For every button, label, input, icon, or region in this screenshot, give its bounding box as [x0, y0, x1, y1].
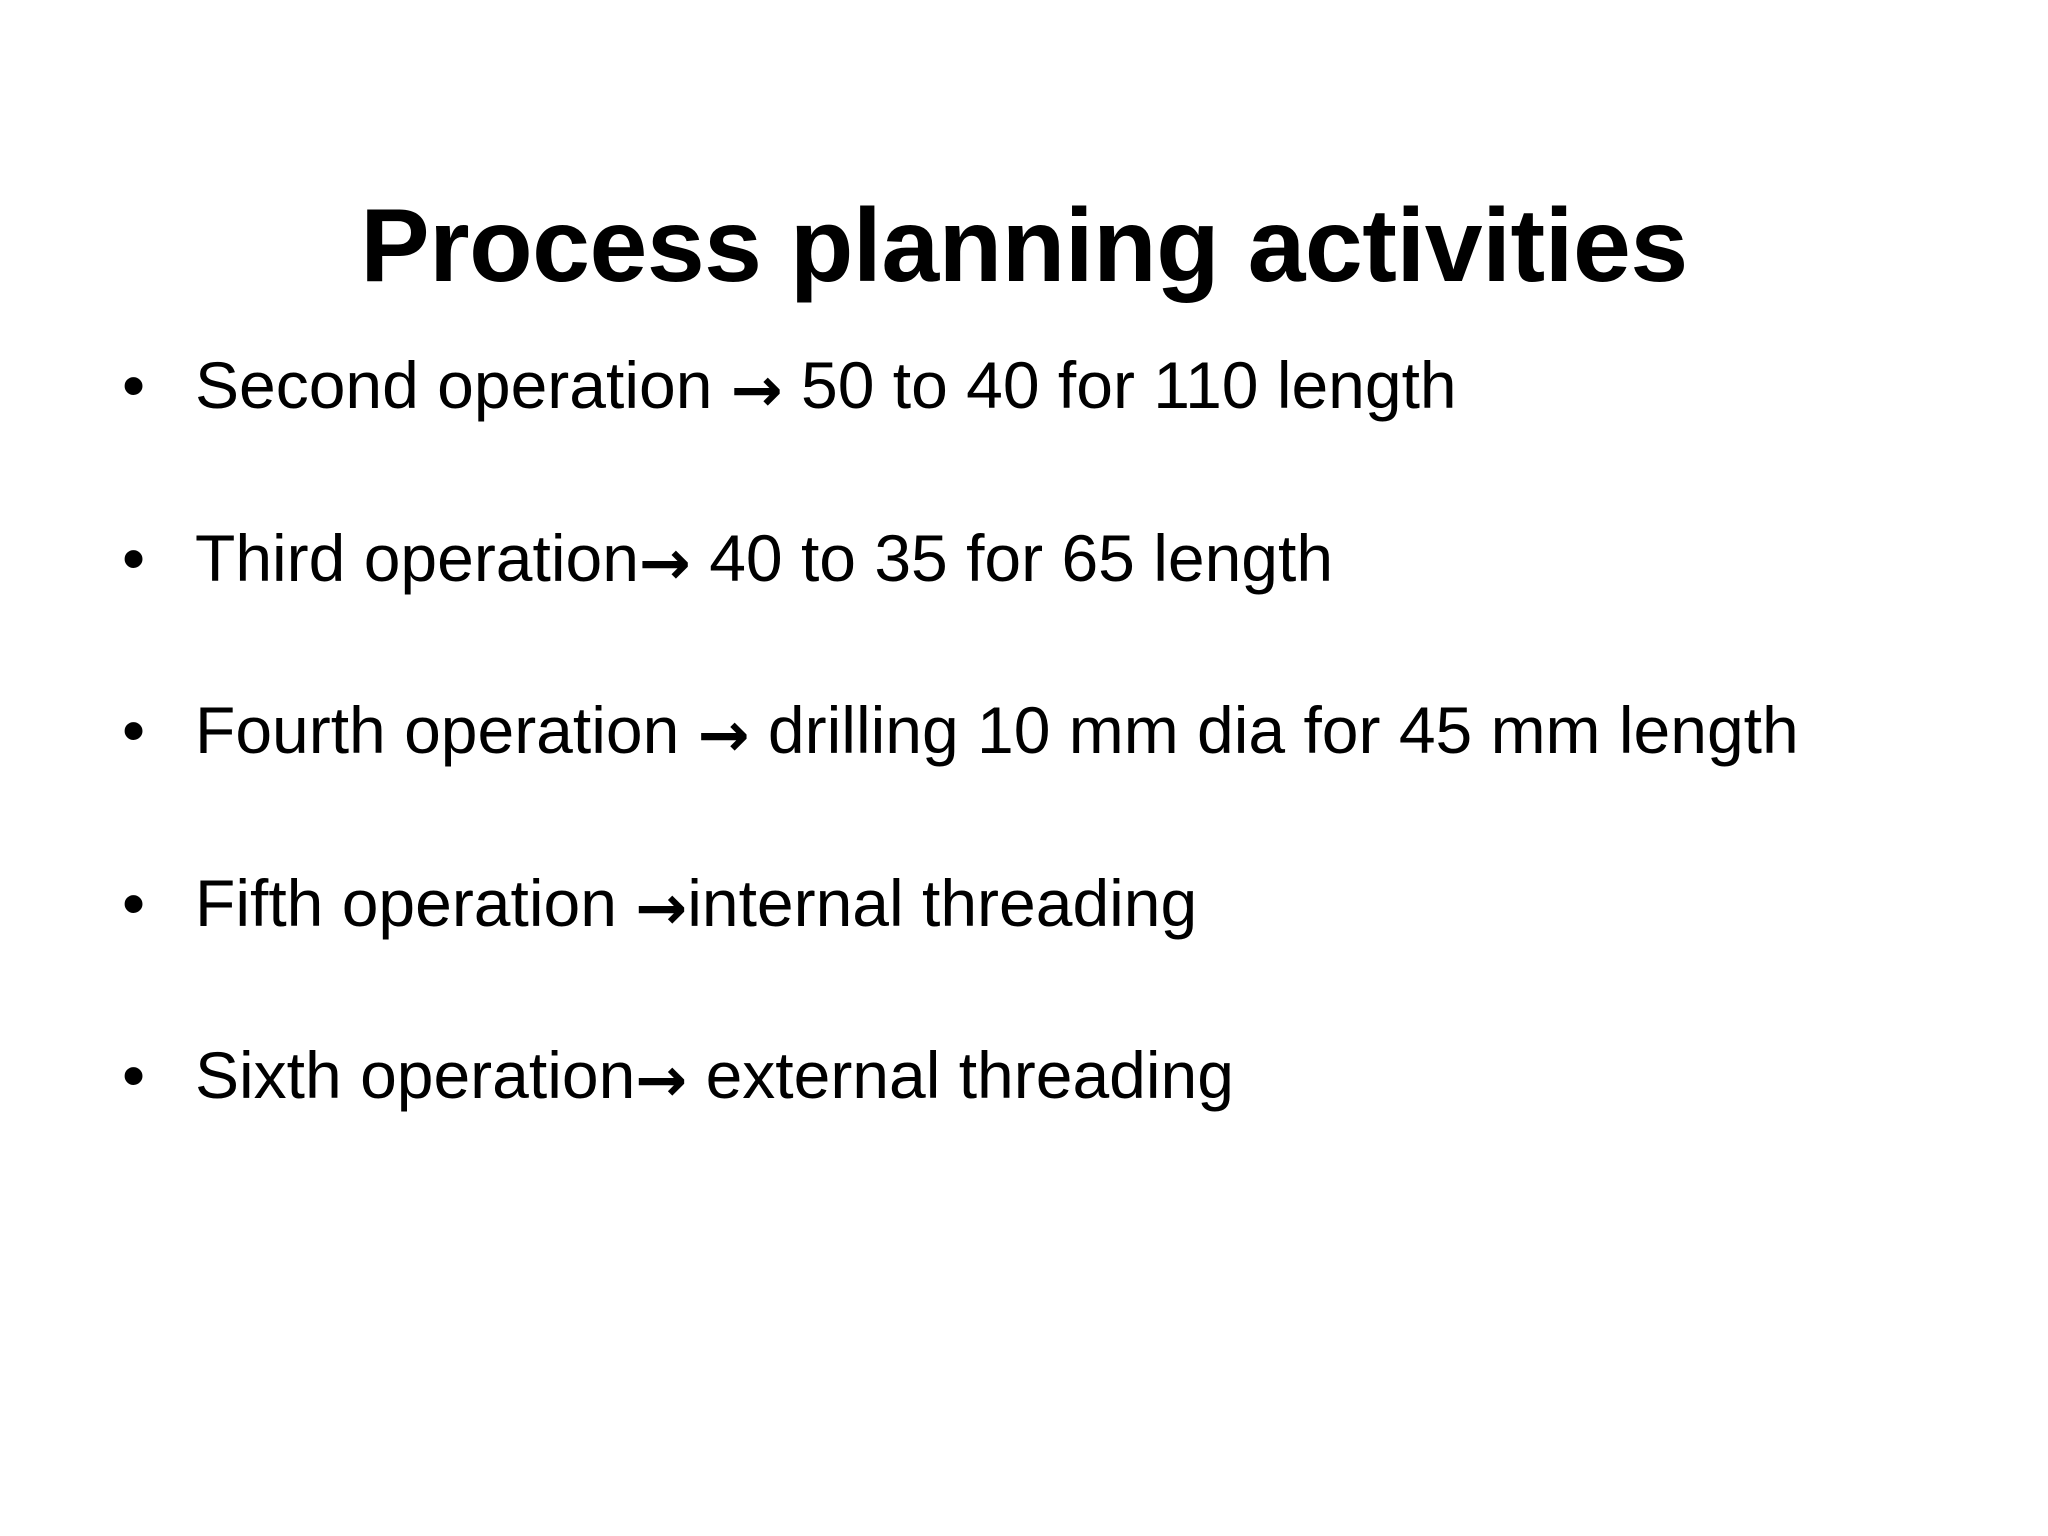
list-item-text-before-arrow: Fifth operation — [195, 866, 635, 940]
bullet-point-icon: • — [112, 518, 195, 599]
list-item-text-before-arrow: Sixth operation — [195, 1038, 635, 1112]
list-item-text-after-arrow: external threading — [687, 1038, 1234, 1112]
right-arrow-icon: → — [635, 1049, 687, 1111]
list-item-text: Fifth operation →internal threading — [195, 863, 1955, 944]
list-item-text-after-arrow: 50 to 40 for 110 length — [783, 348, 1457, 422]
list-item-text: Fourth operation → drilling 10 mm dia fo… — [195, 690, 1955, 771]
list-item-text-after-arrow: internal threading — [687, 866, 1197, 940]
bullet-point-icon: • — [112, 863, 195, 944]
list-item-text-after-arrow: 40 to 35 for 65 length — [691, 521, 1333, 595]
right-arrow-icon: → — [639, 532, 691, 594]
list-item-text-after-arrow: drilling 10 mm dia for 45 mm length — [750, 693, 1799, 767]
slide-title: Process planning activities — [0, 188, 2048, 304]
list-item: • Sixth operation→ external threading — [112, 1035, 1992, 1116]
list-item: • Fourth operation → drilling 10 mm dia … — [112, 690, 1992, 771]
list-item: • Second operation → 50 to 40 for 110 le… — [112, 345, 1992, 426]
right-arrow-icon: → — [731, 359, 783, 421]
presentation-slide: Process planning activities • Second ope… — [0, 0, 2048, 1536]
list-item-text-before-arrow: Third operation — [195, 521, 639, 595]
bullet-point-icon: • — [112, 1035, 195, 1116]
right-arrow-icon: → — [698, 704, 750, 766]
list-item-text: Second operation → 50 to 40 for 110 leng… — [195, 345, 1955, 426]
list-item-text: Third operation→ 40 to 35 for 65 length — [195, 518, 1955, 599]
list-item-text-before-arrow: Second operation — [195, 348, 731, 422]
bullet-point-icon: • — [112, 345, 195, 426]
list-item-text: Sixth operation→ external threading — [195, 1035, 1955, 1116]
list-item: • Third operation→ 40 to 35 for 65 lengt… — [112, 518, 1992, 599]
right-arrow-icon: → — [635, 877, 687, 939]
list-item-text-before-arrow: Fourth operation — [195, 693, 698, 767]
bullet-list: • Second operation → 50 to 40 for 110 le… — [112, 345, 1992, 1116]
list-item: • Fifth operation →internal threading — [112, 863, 1992, 944]
bullet-point-icon: • — [112, 690, 195, 771]
